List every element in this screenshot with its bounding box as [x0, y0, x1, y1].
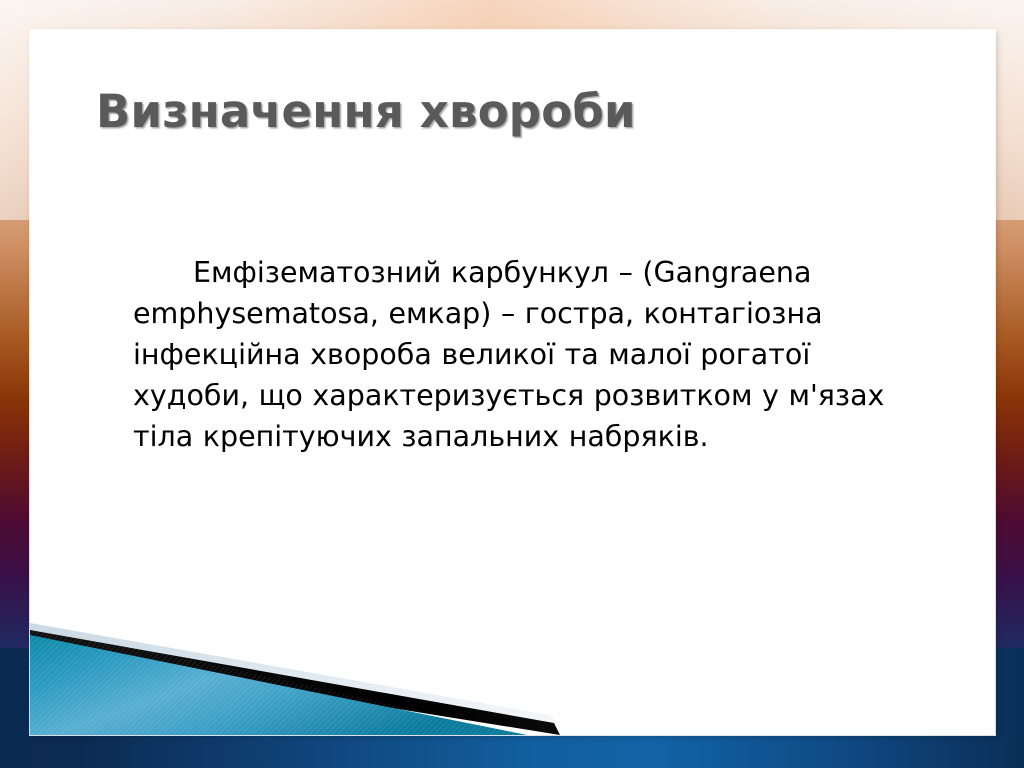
wedge-black-band: [30, 630, 560, 735]
page-title: Визначення хвороби: [96, 88, 936, 137]
bottom-left-wedge-decoration: [30, 605, 995, 735]
wedge-teal-triangle: [30, 635, 527, 735]
slide-body-text: Емфізематозний карбункул – (Gangraena em…: [133, 252, 933, 457]
slide-page: Визначення хвороби Емфізематозний карбун…: [30, 30, 995, 735]
wedge-pale-band: [30, 623, 560, 726]
slide-frame: Визначення хвороби Емфізематозний карбун…: [0, 0, 1024, 768]
wedge-hatch-texture: [30, 623, 530, 735]
